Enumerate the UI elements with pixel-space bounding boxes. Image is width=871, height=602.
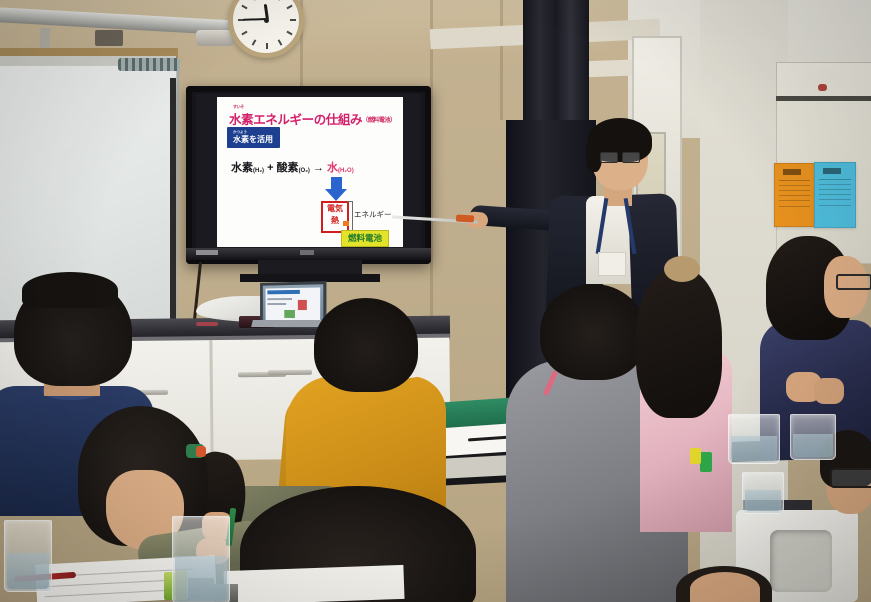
beaker — [742, 472, 784, 514]
equation-reactant-1-formula: (H₂) — [253, 168, 264, 174]
sink-bowl — [770, 530, 832, 592]
yellow-bottle-cap — [690, 448, 701, 464]
slide-output-box: 電気 熱 — [321, 201, 349, 233]
object-on-cabinet-red — [818, 84, 827, 91]
output-electricity-label: 電気 — [323, 203, 347, 215]
clock-face — [233, 0, 299, 53]
fuel-cell-label: 燃料電池 — [342, 231, 388, 246]
slide-title-suffix: （燃料電池） — [362, 118, 396, 124]
wall-poster-cyan — [814, 162, 856, 228]
student-pink-hair — [636, 268, 722, 418]
glasses-icon — [600, 152, 618, 163]
equation-reactant-2: 酸素 — [277, 162, 299, 174]
red-items-on-bench — [196, 322, 218, 326]
display-indicator — [300, 250, 314, 255]
laptop-webpage — [266, 287, 321, 322]
worksheet — [223, 565, 404, 602]
equation-arrow: → — [313, 162, 324, 174]
presentation-slide: すいそ 水素エネルギーの仕組み（燃料電池） かつよう 水素を活用 水素(H₂) … — [217, 97, 403, 247]
adult-navy-hand — [814, 378, 844, 404]
slide-equation: 水素(H₂) + 酸素(O₂) → 水(H₂O) — [231, 159, 391, 175]
equation-reactant-2-formula: (O₂) — [299, 168, 310, 174]
equation-product: 水 — [327, 162, 338, 174]
beaker — [728, 414, 780, 464]
display-logo — [196, 250, 218, 255]
slide-energy-label: エネルギー — [354, 209, 392, 220]
wall-panel-seam — [500, 0, 503, 120]
equation-reactant-1: 水素 — [231, 162, 253, 174]
display-screen: すいそ 水素エネルギーの仕組み（燃料電池） かつよう 水素を活用 水素(H₂) … — [196, 94, 421, 254]
hair-bun — [664, 256, 700, 282]
equation-product-formula: (H₂O) — [338, 168, 354, 174]
student-grey-hair — [540, 284, 646, 380]
student-mustard-hair — [314, 298, 418, 392]
rail-mount — [39, 28, 50, 50]
slide-tag-hydrogen-use: かつよう 水素を活用 — [227, 127, 280, 148]
student-bottom-right-head — [690, 572, 760, 602]
equation-plus: + — [267, 162, 273, 174]
wall-poster-orange — [774, 163, 815, 227]
wall-pipe — [196, 30, 234, 46]
slide-title: すいそ 水素エネルギーの仕組み（燃料電池） — [229, 105, 393, 128]
slide-bracket — [347, 201, 353, 231]
student-navy-hair-top — [22, 272, 118, 308]
classroom-photo: すいそ 水素エネルギーの仕組み（燃料電池） かつよう 水素を活用 水素(H₂) … — [0, 0, 871, 602]
glasses-icon — [622, 152, 640, 163]
slide-title-ruby: すいそ — [233, 105, 393, 109]
slide-title-text: 水素エネルギーの仕組み — [229, 113, 362, 127]
rail-bracket — [95, 30, 123, 46]
slide-tag-label: 水素を活用 — [233, 135, 273, 144]
beaker — [4, 520, 52, 592]
glasses-icon — [830, 468, 871, 488]
whiteboard-right-edge — [170, 78, 176, 328]
hair-tie-accent — [196, 446, 206, 457]
id-badge — [598, 252, 626, 276]
slide-fuel-cell-box: 燃料電池 — [341, 230, 389, 247]
slide-down-arrow-head — [325, 189, 347, 201]
clock-centre-pin — [264, 18, 269, 23]
cabinet-handle[interactable] — [268, 370, 312, 375]
green-bottle-cap — [700, 452, 712, 472]
flipchart-spiral-binding — [118, 58, 180, 71]
cabinet-seam — [776, 96, 871, 101]
glasses-icon — [836, 274, 871, 290]
beaker — [172, 516, 230, 602]
pointer-stick-grip — [456, 214, 474, 222]
beaker — [790, 414, 836, 460]
slide-tag-ruby: かつよう — [233, 130, 273, 134]
